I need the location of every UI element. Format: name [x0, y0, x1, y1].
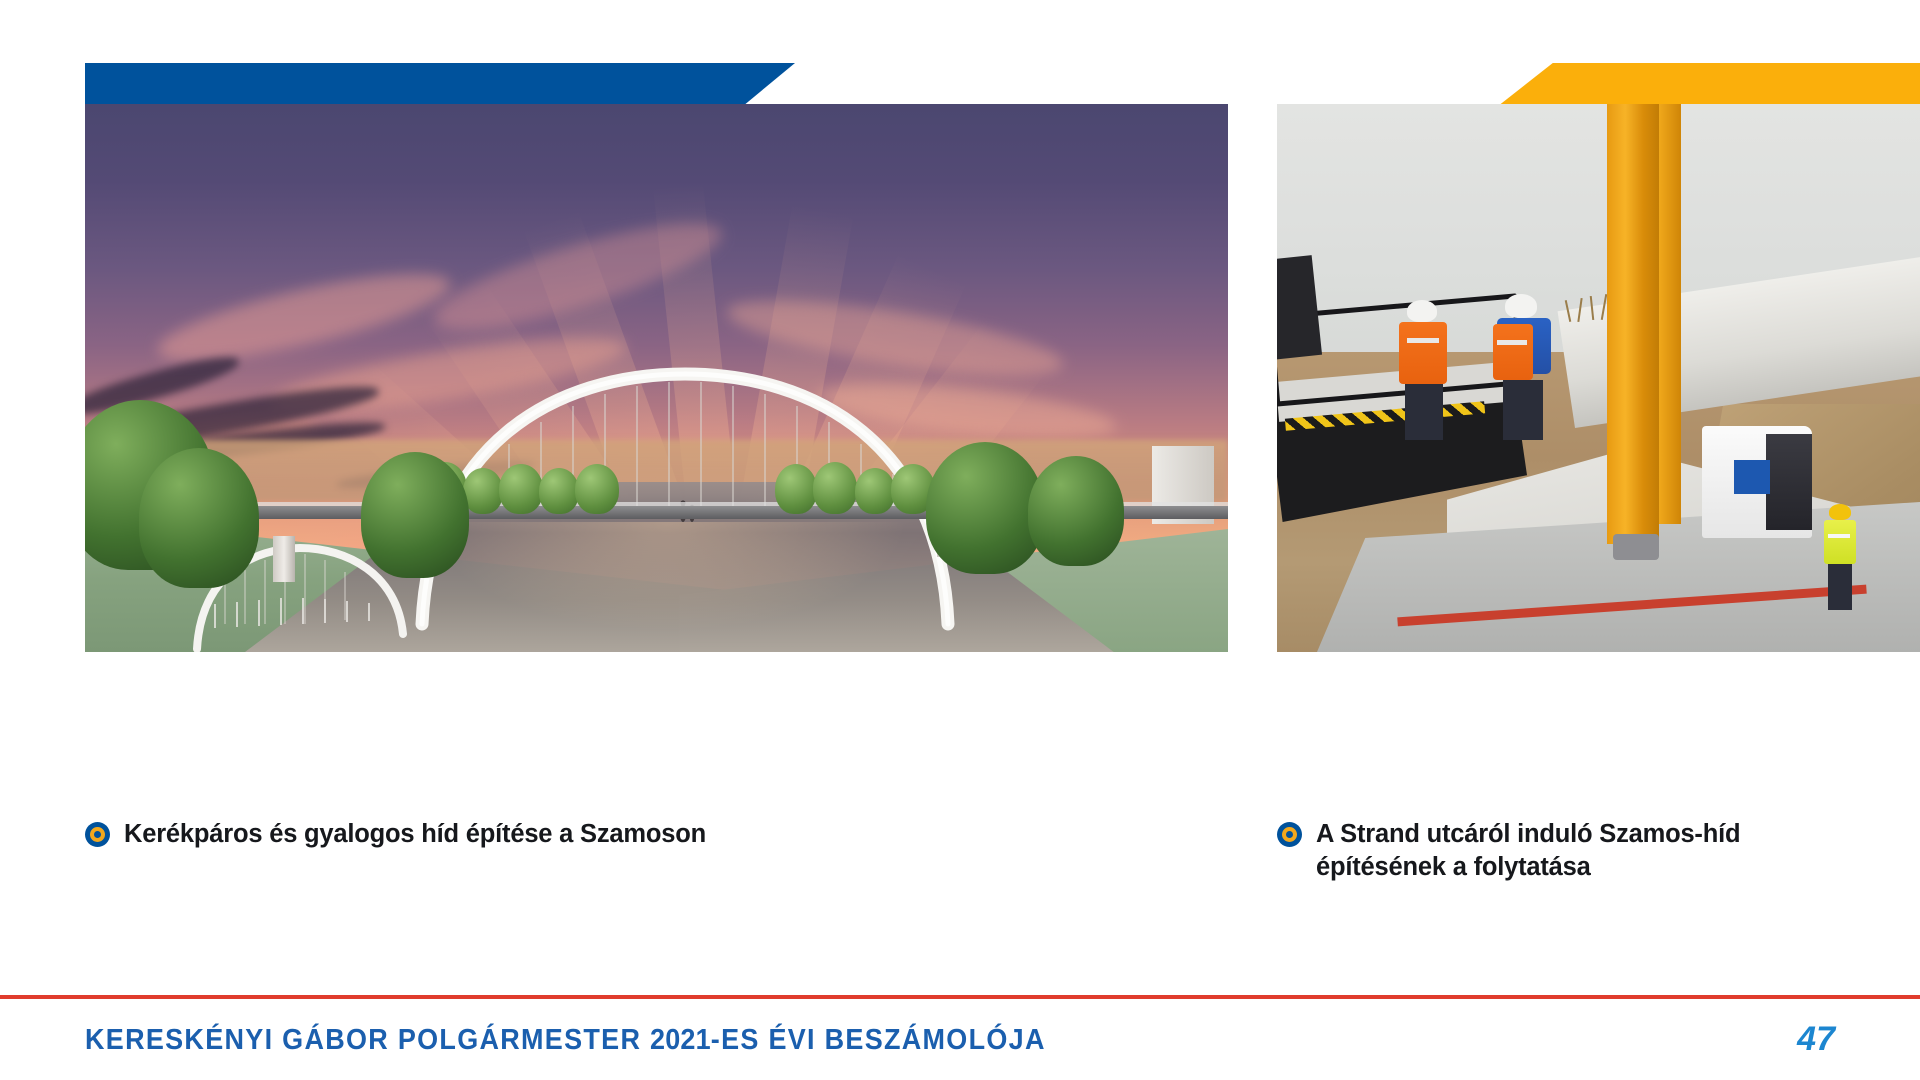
- yellow-accent-bar: [1493, 63, 1920, 110]
- target-bullet-icon: [1277, 822, 1302, 847]
- crane-boom: [1659, 104, 1681, 524]
- bridge-render-image: [85, 104, 1228, 652]
- caption-left-text: Kerékpáros és gyalogos híd építése a Sza…: [124, 818, 706, 851]
- caption-right-text: A Strand utcáról induló Szamos-híd építé…: [1316, 818, 1837, 884]
- foreground-tree: [1028, 456, 1124, 566]
- foreground-tree: [139, 448, 259, 588]
- foreground-tree: [926, 442, 1044, 574]
- bridge-pier: [273, 536, 295, 582]
- blue-accent-bar: [85, 63, 795, 110]
- lifting-hook: [1613, 534, 1659, 560]
- footer-title-suffix: -ES ÉVI BESZÁMOLÓJA: [711, 1024, 1046, 1056]
- crane-boom: [1607, 104, 1659, 544]
- target-bullet-icon: [85, 822, 110, 847]
- footer-divider: [0, 995, 1920, 999]
- footer-title: KERESKÉNYI GÁBOR POLGÁRMESTER 2021-ES ÉV…: [85, 1024, 1046, 1057]
- construction-photo-image: [1277, 104, 1920, 652]
- footer-year: 2021: [650, 1024, 711, 1056]
- footer-title-prefix: KERESKÉNYI GÁBOR POLGÁRMESTER: [85, 1024, 650, 1056]
- caption-right: A Strand utcáról induló Szamos-híd építé…: [1277, 818, 1837, 884]
- foreground-tree: [361, 452, 469, 578]
- bridge-structure: [85, 104, 1228, 652]
- equipment-case: [1734, 460, 1770, 494]
- caption-left: Kerékpáros és gyalogos híd építése a Sza…: [85, 818, 845, 851]
- van-open-door: [1766, 434, 1812, 530]
- page-number: 47: [1797, 1020, 1835, 1059]
